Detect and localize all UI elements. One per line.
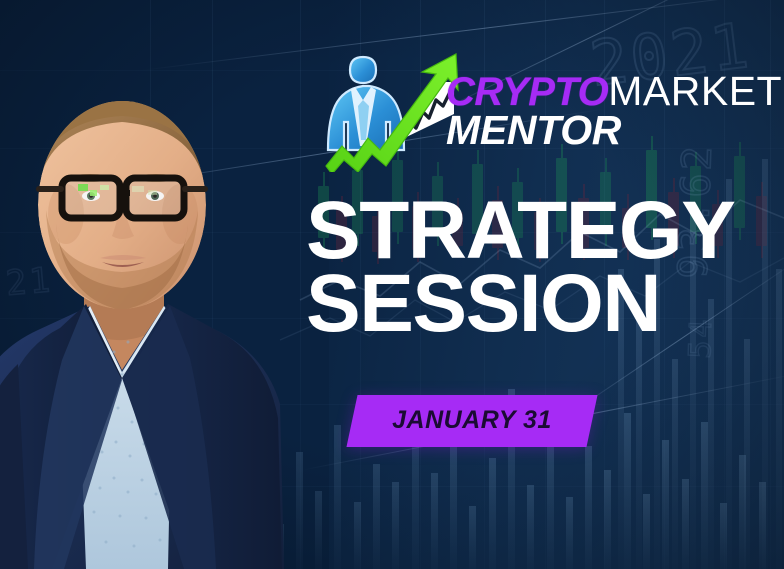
brand-wordmark: CRYPTOMARKET MENTOR	[446, 72, 784, 154]
brand-logo[interactable]: CRYPTOMARKET MENTOR	[306, 42, 776, 172]
date-badge-label: JANUARY 31	[392, 406, 552, 435]
headline-line-2: SESSION	[306, 269, 766, 340]
brand-mentor-text: MENTOR	[446, 107, 784, 154]
host-portrait	[0, 0, 294, 569]
headline-line-1: STRATEGY	[306, 196, 766, 267]
date-badge[interactable]: JANUARY 31	[346, 395, 597, 447]
social-graphic-canvas: 2021 93.62 21 54	[0, 0, 784, 569]
portrait-illustration	[0, 0, 294, 569]
glasses-icon	[36, 178, 208, 218]
brand-market-text: MARKET	[608, 68, 782, 114]
page-title: STRATEGY SESSION	[306, 196, 766, 339]
brand-line-1: CRYPTOMARKET	[446, 72, 784, 111]
